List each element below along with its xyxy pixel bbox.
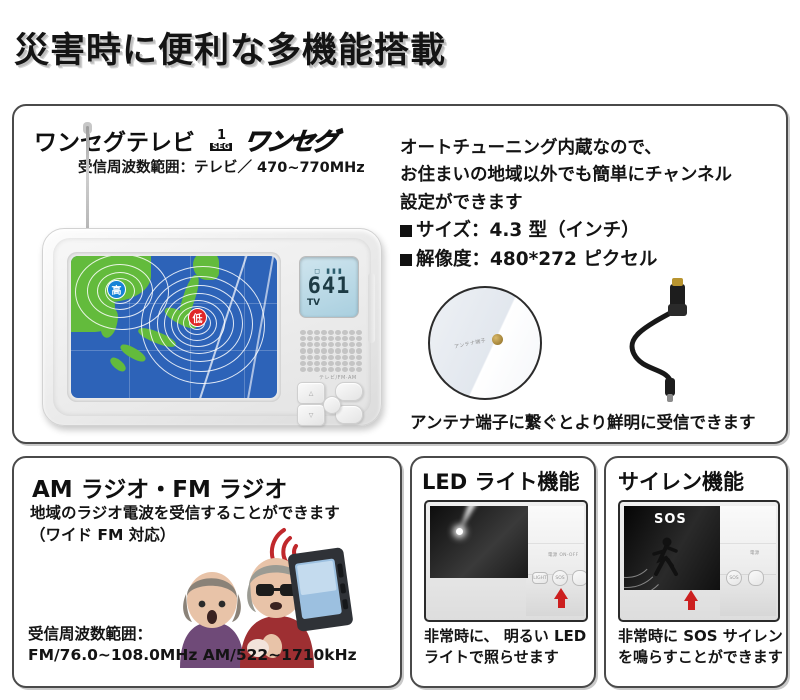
panel-onesegment-tv: ワンセグテレビ 1 SEG ワンセグ 受信周波数範囲：テレビ／ 470~770M… [12, 104, 788, 444]
device-body: 高 低 ◻ ▮▮▮ 641 TV [42, 228, 382, 426]
map-landmass-japan [108, 355, 128, 373]
siren-caption: 非常時に SOS サイレン を鳴らすことができます [618, 626, 783, 669]
lcd-mode-label: TV [307, 298, 320, 308]
tv-section-title: ワンセグテレビ [34, 123, 195, 157]
speaker-grille [300, 330, 362, 372]
panel-siren: サイレン機能 電源 SOS SOS [604, 456, 788, 688]
oneseg-logo: ワンセグ [241, 122, 338, 158]
center-ok-button[interactable] [323, 396, 341, 414]
high-pressure-marker: 高 [107, 280, 126, 299]
antenna-jack-label: アンテナ端子 [454, 337, 487, 351]
screen-bezel: 高 低 [67, 252, 281, 402]
low-pressure-marker: 低 [188, 308, 207, 327]
power-label: 電源 [750, 550, 760, 556]
tv-screen-weather-map: 高 低 [71, 256, 277, 398]
antenna-jack-icon [492, 334, 503, 345]
device-surface: 電源 SOS [720, 506, 776, 616]
tv-device-photo: 高 低 ◻ ▮▮▮ 641 TV [42, 180, 390, 430]
siren-caption-line-1: 非常時に SOS サイレン [618, 626, 783, 647]
dark-scene-photo [430, 506, 528, 578]
channel-down-button[interactable]: ▽ [297, 404, 325, 426]
led-demo-photo: 電源 ON-OFF LIGHT SOS [424, 500, 588, 622]
antenna-terminal-closeup-photo: アンテナ端子 [428, 286, 542, 400]
tv-spec-resolution-row: 解像度：480*272 ピクセル [400, 247, 790, 274]
bullet-square-icon [400, 225, 412, 237]
tv-copy-line-1: オートチューニング内蔵なので、 [400, 136, 790, 161]
device-front-face: 高 低 ◻ ▮▮▮ 641 TV [53, 238, 371, 416]
radio-section-title: AM ラジオ・FM ラジオ [32, 470, 287, 504]
antenna-cable-photo [604, 276, 724, 406]
power-label: 電源 ON-OFF [548, 552, 579, 558]
accessory-caption: アンテナ端子に繋ぐとより鮮明に受信できます [410, 409, 756, 433]
lcd-channel-value: 641 [308, 276, 351, 298]
tv-copy-line-2: お住まいの地域以外でも簡単にチャンネル [400, 163, 790, 188]
page-title: 災害時に便利な多機能搭載 [14, 22, 446, 73]
oneseg-badge-number: 1 [217, 129, 225, 142]
dark-scene-photo: SOS [624, 506, 720, 590]
led-caption-line-2: ライトで照らせます [424, 647, 586, 668]
panel-led-light: LED ライト機能 電源 ON-OFF LIGHT SOS 非常時に、 明るい … [410, 456, 596, 688]
radio-freq-label: 受信周波数範囲： [28, 624, 357, 645]
panel-am-fm-radio: AM ラジオ・FM ラジオ 地域のラジオ電波を受信することができます （ワイド … [12, 456, 402, 688]
auto-scan-button[interactable] [335, 382, 363, 401]
tv-copy-line-3: 設定ができます [400, 191, 790, 216]
siren-caption-line-2: を鳴らすことができます [618, 647, 783, 668]
siren-section-title: サイレン機能 [618, 466, 744, 496]
led-lamp-icon [456, 528, 463, 535]
device-side-ridge [368, 273, 375, 343]
tv-spec-resolution: 解像度：480*272 ピクセル [416, 249, 657, 270]
antenna-rod [86, 126, 89, 244]
oneseg-badge-icon: 1 SEG [204, 127, 238, 153]
tv-description-block: オートチューニング内蔵なので、 お住まいの地域以外でも簡単にチャンネル 設定がで… [400, 136, 790, 276]
product-feature-sheet: 災害時に便利な多機能搭載 ワンセグテレビ 1 SEG ワンセグ 受信周波数範囲：… [0, 0, 800, 700]
power-button[interactable] [572, 570, 588, 586]
lcd-display: ◻ ▮▮▮ 641 TV [299, 256, 359, 318]
oneseg-badge-label: SEG [210, 143, 232, 151]
running-person-icon [646, 536, 686, 580]
mode-switch-label: テレビ/FM·AM [319, 374, 357, 381]
channel-up-button[interactable]: △ [297, 382, 325, 404]
tv-spec-size-row: サイズ：4.3 型（インチ） [400, 218, 790, 245]
led-caption: 非常時に、 明るい LED ライトで照らせます [424, 626, 586, 669]
device-surface: 電源 ON-OFF LIGHT SOS [526, 506, 584, 616]
led-caption-line-1: 非常時に、 明るい LED [424, 626, 586, 647]
tv-section-header: ワンセグテレビ 1 SEG ワンセグ [34, 122, 336, 158]
power-button[interactable] [748, 570, 764, 586]
siren-button[interactable]: SOS [552, 570, 568, 586]
siren-demo-photo: 電源 SOS SOS [618, 500, 780, 622]
map-landmass-japan [118, 342, 147, 365]
bullet-square-icon [400, 254, 412, 266]
siren-button[interactable]: SOS [726, 570, 742, 586]
radio-freq-value: FM/76.0~108.0MHz AM/522~1710kHz [28, 645, 357, 666]
radio-frequency-block: 受信周波数範囲： FM/76.0~108.0MHz AM/522~1710kHz [28, 624, 357, 666]
tv-frequency-text: 受信周波数範囲：テレビ／ 470~770MHz [78, 156, 365, 177]
led-light-button[interactable]: LIGHT [532, 572, 548, 584]
led-section-title: LED ライト機能 [422, 466, 579, 496]
tv-spec-size: サイズ：4.3 型（インチ） [416, 220, 640, 241]
